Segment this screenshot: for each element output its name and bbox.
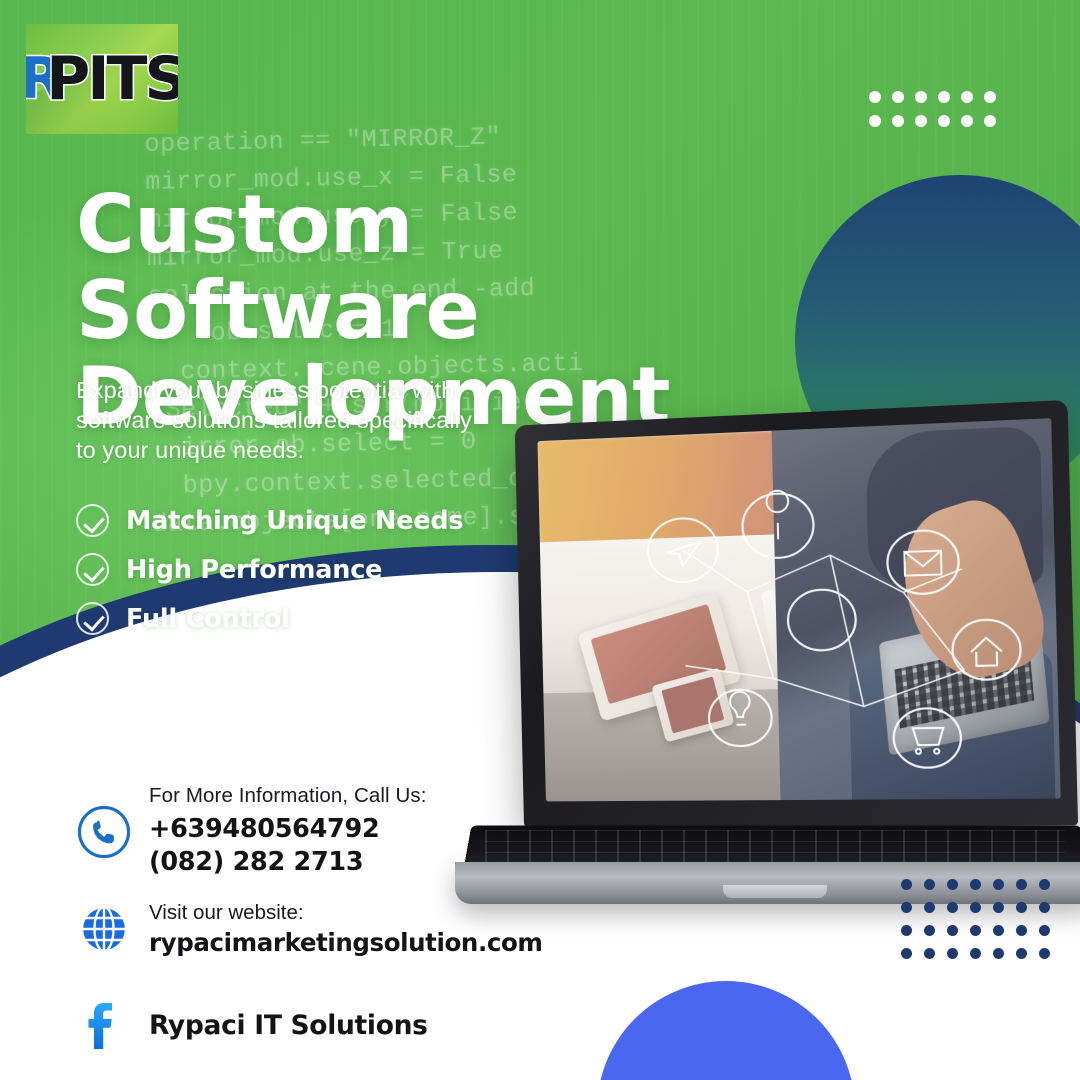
dot (915, 115, 927, 127)
dot (1016, 902, 1027, 913)
dot (892, 115, 904, 127)
check-circle-icon (76, 553, 109, 586)
envelope-flap-glyph (904, 551, 941, 567)
dot (984, 91, 996, 103)
rpits-logo[interactable]: RPITS (26, 24, 178, 134)
dot (1039, 879, 1050, 890)
dot (924, 925, 935, 936)
dot (892, 91, 904, 103)
home-glyph (971, 637, 1003, 665)
dot (993, 948, 1004, 959)
dot (993, 902, 1004, 913)
promotional-poster: operation == "MIRROR_Z" mirror_mod.use_x… (0, 0, 1080, 1080)
dot (1016, 879, 1027, 890)
dot (961, 115, 973, 127)
dot (947, 879, 958, 890)
dot (993, 879, 1004, 890)
dot (1016, 925, 1027, 936)
dot (970, 879, 981, 890)
dot (961, 91, 973, 103)
laptop-front-notch (723, 885, 827, 898)
dot (947, 902, 958, 913)
check-circle-icon (76, 602, 109, 635)
feature-label: High Performance (126, 555, 382, 585)
website-text-block: Visit our website: rypacimarketingsoluti… (149, 901, 543, 957)
node-circle-icon (787, 589, 856, 651)
dot (901, 902, 912, 913)
dot (938, 91, 950, 103)
dot (901, 948, 912, 959)
dot (1039, 902, 1050, 913)
feature-label: Full Control (126, 604, 290, 634)
dot (938, 115, 950, 127)
dot (924, 879, 935, 890)
dot (984, 115, 996, 127)
dot (993, 925, 1004, 936)
phone-icon (76, 804, 132, 860)
dot (970, 902, 981, 913)
dot (970, 925, 981, 936)
logo-letters-pits: PITS (46, 49, 178, 109)
feature-label: Matching Unique Needs (126, 506, 463, 536)
dot (901, 879, 912, 890)
laptop-keyboard-keys (485, 830, 1065, 864)
logo-wordmark: RPITS (26, 24, 178, 134)
shopping-cart-glyph (913, 728, 944, 754)
dot (915, 91, 927, 103)
hero-subtitle: Expand your business potential with soft… (76, 375, 476, 465)
contact-facebook-row[interactable]: Rypaci IT Solutions (76, 1000, 543, 1052)
dot (947, 948, 958, 959)
dot (1039, 925, 1050, 936)
dot (1016, 948, 1027, 959)
dot-grid-bottom-right (901, 879, 1050, 959)
paper-plane-glyph (666, 542, 700, 566)
dot (970, 948, 981, 959)
website-label: Visit our website: (149, 901, 543, 925)
lightbulb-glyph (730, 692, 750, 725)
laptop-screen-photo (537, 418, 1060, 801)
location-pin-glyph (766, 490, 789, 539)
contact-website-row[interactable]: Visit our website: rypacimarketingsoluti… (76, 901, 543, 957)
contact-phone-row[interactable]: For More Information, Call Us: +63948056… (76, 786, 543, 879)
dot (947, 925, 958, 936)
dot (869, 91, 881, 103)
phone-call-label: For More Information, Call Us: (149, 786, 427, 807)
shopping-cart-icon (893, 708, 962, 768)
network-icon-overlay (537, 418, 1060, 801)
phone-number-secondary[interactable]: (082) 282 2713 (149, 846, 427, 879)
laptop-product-image (455, 413, 1080, 908)
home-icon (952, 619, 1021, 680)
dot-grid-top-right (869, 91, 996, 127)
laptop-lid (515, 400, 1078, 827)
check-circle-icon (76, 504, 109, 537)
dot (901, 925, 912, 936)
website-url[interactable]: rypacimarketingsolution.com (149, 928, 543, 957)
phone-number-primary[interactable]: +639480564792 (149, 813, 427, 846)
contact-block: For More Information, Call Us: +63948056… (76, 786, 543, 1052)
dot (869, 115, 881, 127)
facebook-page-name[interactable]: Rypaci IT Solutions (149, 1010, 428, 1041)
dot (924, 948, 935, 959)
facebook-icon (81, 1000, 127, 1052)
dot (924, 902, 935, 913)
dot (1039, 948, 1050, 959)
globe-icon (79, 904, 129, 954)
phone-text-block: For More Information, Call Us: +63948056… (149, 786, 427, 879)
